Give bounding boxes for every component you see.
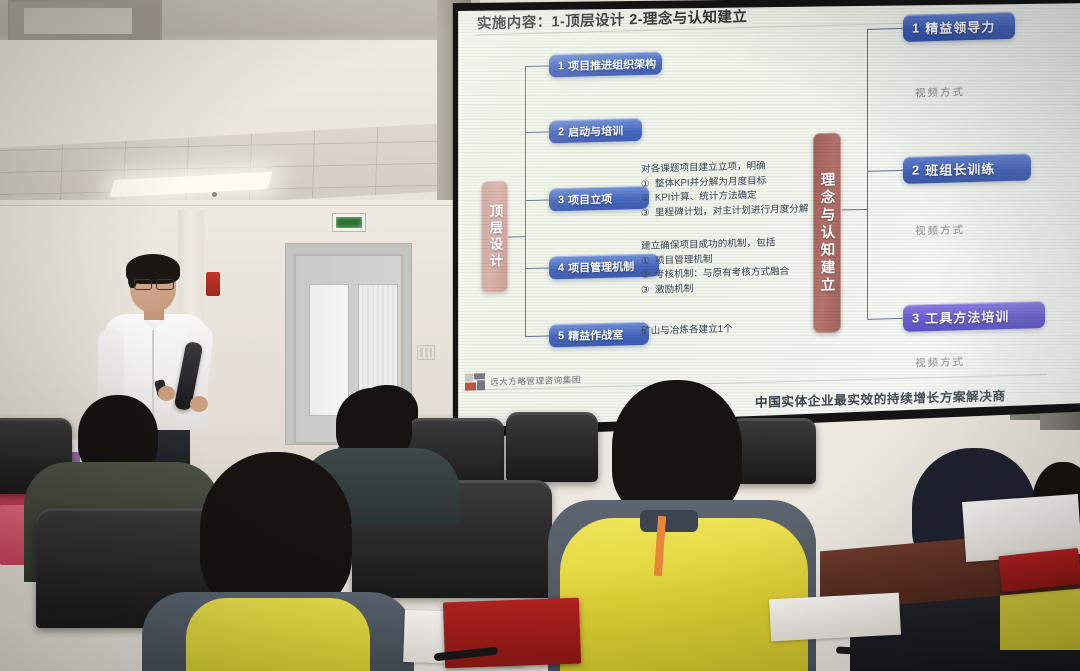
section-label-concept-awareness: 理念与认知建立	[813, 133, 841, 334]
connector-branch	[525, 335, 549, 337]
section-label-top-level-design: 顶层设计	[481, 181, 508, 294]
node-right-2-num: 2	[912, 162, 920, 177]
connector-branch	[525, 267, 549, 269]
node-left-3-label: 项目立项	[568, 190, 612, 207]
node-right-3-label: 工具方法培训	[925, 306, 1009, 327]
node-left-4-num: 4	[558, 262, 564, 274]
exit-sign	[332, 213, 366, 232]
attendee-shirt-yellow	[186, 598, 370, 671]
node-left-2-num: 2	[558, 126, 564, 138]
node-left-3[interactable]: 3 项目立项	[549, 186, 649, 212]
connector-branch	[867, 318, 903, 320]
attendee-head	[200, 452, 352, 612]
connector-branch	[525, 65, 549, 67]
detail-text-4: 建立确保项目成功的机制，包括 ① 项目管理机制 ② 考核机制：与原有考核方式融合…	[641, 236, 789, 298]
sprinkler-head	[212, 192, 217, 197]
ceiling-ac-vent	[8, 0, 162, 42]
note-right-2: 视频方式	[915, 222, 965, 238]
presenter-hand-left	[158, 386, 175, 401]
connector-stub-right	[842, 209, 868, 211]
node-left-3-num: 3	[558, 194, 564, 206]
handout-paper	[769, 593, 901, 642]
projection-screen: 实施内容：1-顶层设计 2-理念与认知建立 顶层设计 1 项目推进组织架构 2 …	[455, 2, 1080, 432]
node-left-1[interactable]: 1 项目推进组织架构	[549, 51, 662, 77]
detail-text-5: 矿山与冶炼各建立1个	[641, 322, 733, 339]
node-left-5-num: 5	[558, 330, 564, 342]
node-right-2[interactable]: 2 班组长训练	[903, 153, 1031, 183]
node-left-2-label: 启动与培训	[568, 122, 623, 139]
node-left-5-label: 精益作战室	[568, 326, 623, 343]
wall-seam	[0, 205, 470, 206]
presenter-hand-right	[190, 396, 208, 412]
node-left-4-label: 项目管理机制	[568, 258, 634, 276]
node-right-1-num: 1	[912, 20, 920, 35]
slide-tagline: 中国实体企业最实效的持续增长方案解决商	[755, 385, 1006, 411]
screenshot-root: 实施内容：1-顶层设计 2-理念与认知建立 顶层设计 1 项目推进组织架构 2 …	[0, 0, 1080, 671]
presentation-slide: 实施内容：1-顶层设计 2-理念与认知建立 顶层设计 1 项目推进组织架构 2 …	[455, 2, 1080, 432]
logo-text: 远大方略管理咨询集团	[490, 373, 581, 387]
node-left-2[interactable]: 2 启动与培训	[549, 118, 642, 144]
node-right-3[interactable]: 3 工具方法培训	[903, 301, 1045, 332]
glasses-icon	[134, 279, 174, 288]
presenter-shirt-placket	[152, 330, 154, 422]
node-right-1-label: 精益领导力	[925, 16, 995, 37]
logo-mark-icon	[465, 373, 485, 391]
note-right-1: 视频方式	[915, 84, 965, 100]
note-right-3: 视频方式	[915, 354, 965, 370]
node-right-1[interactable]: 1 精益领导力	[903, 12, 1015, 42]
light-switch-plate[interactable]	[417, 345, 435, 360]
attendee-shirt-yellow	[560, 518, 808, 671]
node-left-5[interactable]: 5 精益作战室	[549, 322, 649, 348]
node-left-1-label: 项目推进组织架构	[568, 55, 656, 73]
connector-branch	[867, 28, 903, 30]
node-left-1-num: 1	[558, 60, 564, 72]
attendee-collar	[640, 510, 698, 532]
connector-stub-left	[508, 236, 526, 238]
detail-text-3: 对各课题项目建立立项，明确 ① 整体KPI并分解为月度目标 ② KPI计算、统计…	[641, 158, 808, 221]
connector-branch	[525, 199, 549, 201]
exit-sign-light	[336, 217, 362, 228]
node-right-3-num: 3	[912, 310, 920, 325]
connector-branch	[867, 170, 903, 172]
company-logo: 远大方略管理咨询集团	[465, 371, 581, 391]
connector-trunk-right	[867, 29, 868, 319]
chair-back[interactable]	[730, 418, 816, 484]
chair-back[interactable]	[506, 412, 598, 482]
attendee-head	[612, 380, 742, 518]
connector-branch	[525, 131, 549, 133]
node-right-2-label: 班组长训练	[925, 158, 995, 179]
